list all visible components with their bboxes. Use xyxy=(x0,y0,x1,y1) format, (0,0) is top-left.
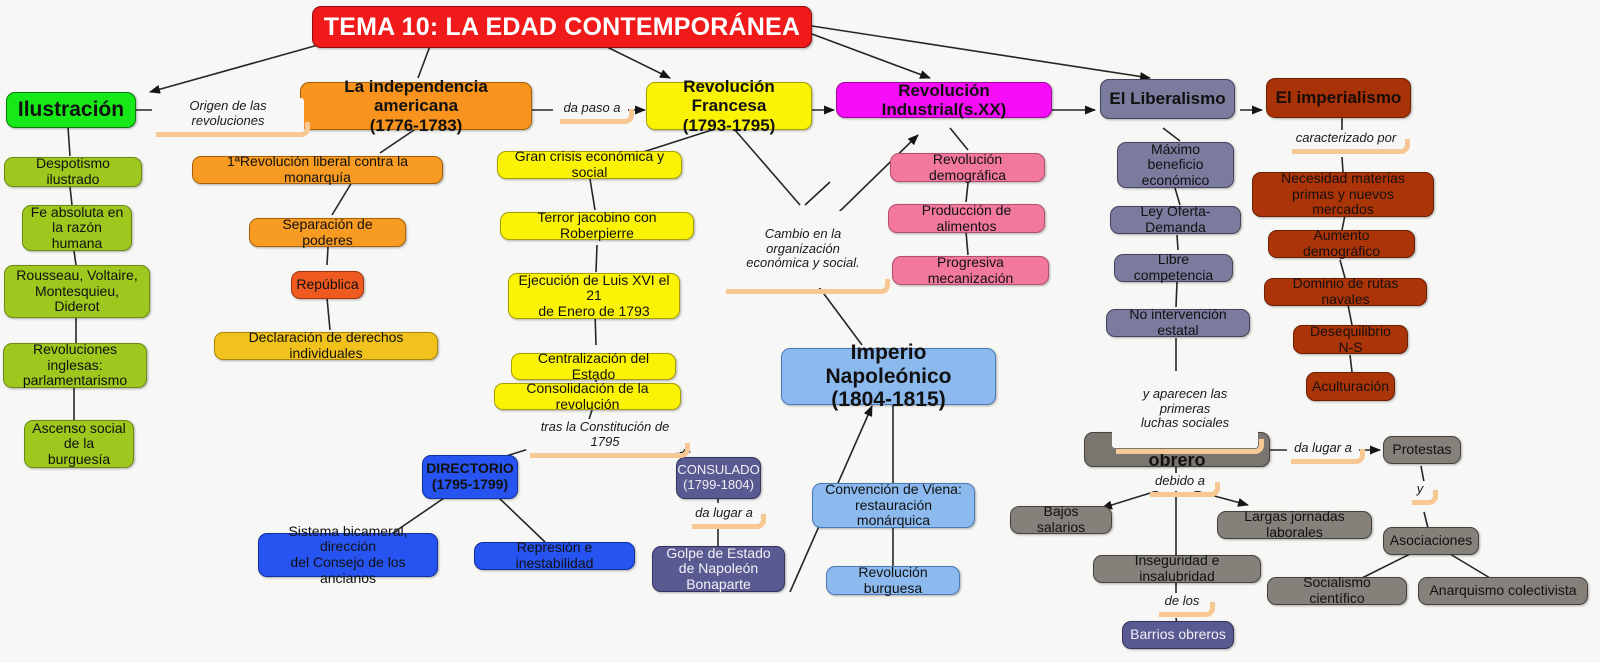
node-consulado[interactable]: CONSULADO (1799-1804) xyxy=(676,457,761,499)
edge-label-text: Cambio en la organización económica y so… xyxy=(746,226,859,271)
node-progresiva-mecanizacion[interactable]: Progresiva mecanización xyxy=(892,256,1049,285)
node-gran-crisis[interactable]: Gran crisis económica y social xyxy=(497,151,682,179)
node-independencia-americana[interactable]: La independencia americana (1776-1783) xyxy=(300,82,532,130)
edge-label-text: y aparecen las primeras luchas sociales xyxy=(1141,386,1229,431)
edge-label-text: da lugar a xyxy=(1294,440,1352,455)
node-pensadores[interactable]: Rousseau, Voltaire, Montesquieu, Diderot xyxy=(4,265,150,318)
edge-label-origen-revoluciones: Origen de las revoluciones xyxy=(152,98,304,131)
edge-label-text: y xyxy=(1417,481,1424,496)
node-consolidacion-revolucion[interactable]: Consolidación de la revolución xyxy=(494,383,681,410)
node-maximo-beneficio[interactable]: Máximo beneficio económico xyxy=(1117,142,1234,188)
edge-label-de-los: de los xyxy=(1155,593,1209,611)
node-centralizacion-estado[interactable]: Centralización del Estado xyxy=(511,353,676,380)
edge-label-da-lugar-a-consulado: da lugar a xyxy=(688,505,760,523)
edge-label-da-paso-a: da paso a xyxy=(556,100,628,118)
node-declaracion-derechos[interactable]: Declaración de derechos individuales xyxy=(214,332,438,360)
node-revolucion-demografica[interactable]: Revolución demográfica xyxy=(890,153,1045,182)
node-necesidad-materias[interactable]: Necesidad materias primas y nuevos merca… xyxy=(1252,172,1434,217)
node-liberalismo[interactable]: El Liberalismo xyxy=(1100,79,1235,119)
node-bajos-salarios[interactable]: Bajos salarios xyxy=(1010,506,1112,534)
node-revolucion-burguesa[interactable]: Revolución burguesa xyxy=(826,566,960,595)
node-primera-revolucion-liberal[interactable]: 1ªRevolución liberal contra la monarquía xyxy=(192,156,443,184)
node-ejecucion-luis-xvi[interactable]: Ejecución de Luis XVI el 21 de Enero de … xyxy=(508,273,680,319)
label-shadow xyxy=(726,279,890,294)
edge-label-text: Origen de las revoluciones xyxy=(189,98,266,128)
node-revolucion-francesa[interactable]: Revolución Francesa (1793-1795) xyxy=(646,82,812,130)
edge-label-luchas-sociales: y aparecen las primeras luchas sociales xyxy=(1112,371,1258,448)
node-dominio-rutas-navales[interactable]: Dominio de rutas navales xyxy=(1264,278,1427,306)
node-no-intervencion-estatal[interactable]: No intervención estatal xyxy=(1106,309,1250,337)
node-aculturacion[interactable]: Aculturación xyxy=(1306,372,1395,401)
node-despotismo-ilustrado[interactable]: Despotismo ilustrado xyxy=(4,157,142,187)
node-directorio[interactable]: DIRECTORIO (1795-1799) xyxy=(422,455,518,499)
edge-label-caracterizado-por: caracterizado por xyxy=(1288,130,1404,148)
edge-label-da-lugar-a-protestas: da lugar a xyxy=(1287,440,1359,458)
label-shadow xyxy=(1116,439,1264,454)
edge-label-y: y xyxy=(1408,481,1432,499)
edge-label-cambio-organizacion: Cambio en la organización económica y so… xyxy=(722,211,884,288)
concept-map-canvas: TEMA 10: LA EDAD CONTEMPORÁNEA Ilustraci… xyxy=(0,0,1600,663)
node-socialismo-cientifico[interactable]: Socialismo científico xyxy=(1267,577,1407,605)
node-fe-absoluta[interactable]: Fe absoluta en la razón humana xyxy=(22,205,132,251)
node-sistema-bicameral[interactable]: Sistema bicameral, dirección del Consejo… xyxy=(258,533,438,577)
node-title[interactable]: TEMA 10: LA EDAD CONTEMPORÁNEA xyxy=(312,6,812,48)
node-represion-inestabilidad[interactable]: Represión e inestabilidad xyxy=(474,542,635,570)
node-barrios-obreros[interactable]: Barrios obreros xyxy=(1122,621,1234,649)
node-convencion-viena[interactable]: Convención de Viena: restauración monárq… xyxy=(812,483,975,528)
edge-label-text: de los xyxy=(1165,593,1200,608)
node-separacion-poderes[interactable]: Separación de poderes xyxy=(249,218,406,247)
node-protestas[interactable]: Protestas xyxy=(1383,436,1461,464)
node-ley-oferta-demanda[interactable]: Ley Oferta-Demanda xyxy=(1110,206,1241,234)
node-largas-jornadas[interactable]: Largas jornadas laborales xyxy=(1217,511,1372,539)
node-imperio-napoleonico[interactable]: Imperio Napoleónico (1804-1815) xyxy=(781,348,996,405)
node-ascenso-social[interactable]: Ascenso social de la burguesía xyxy=(24,420,134,468)
node-asociaciones[interactable]: Asociaciones xyxy=(1383,527,1479,555)
edge-label-tras-constitucion: tras la Constitución de 1795 xyxy=(526,419,684,452)
node-republica[interactable]: República xyxy=(291,271,364,299)
node-revolucion-industrial[interactable]: Revolución Industrial(s.XX) xyxy=(836,82,1052,118)
edge-label-text: debido a xyxy=(1155,473,1205,488)
node-imperialismo[interactable]: El imperialismo xyxy=(1266,78,1411,118)
edge-label-text: da lugar a xyxy=(695,505,753,520)
node-golpe-estado-napoleon[interactable]: Golpe de Estado de Napoleón Bonaparte xyxy=(652,546,785,592)
node-inseguridad-insalubridad[interactable]: Inseguridad e insalubridad xyxy=(1093,555,1261,583)
node-anarquismo-colectivista[interactable]: Anarquismo colectivista xyxy=(1418,577,1588,605)
node-produccion-alimentos[interactable]: Producción de alimentos xyxy=(888,204,1045,233)
edge-label-debido-a: debido a xyxy=(1146,473,1214,491)
edge-label-text: caracterizado por xyxy=(1296,130,1396,145)
node-ilustracion[interactable]: Ilustración xyxy=(6,92,136,128)
node-aumento-demografico[interactable]: Aumento demográfico xyxy=(1268,230,1415,258)
edge-label-text: da paso a xyxy=(563,100,620,115)
node-libre-competencia[interactable]: Libre competencia xyxy=(1114,254,1233,282)
node-revoluciones-inglesas[interactable]: Revoluciones inglesas: parlamentarismo xyxy=(3,343,147,388)
node-desequilibrio-ns[interactable]: Desequilibrio N-S xyxy=(1293,325,1408,354)
node-terror-jacobino[interactable]: Terror jacobino con Roberpierre xyxy=(500,212,694,240)
